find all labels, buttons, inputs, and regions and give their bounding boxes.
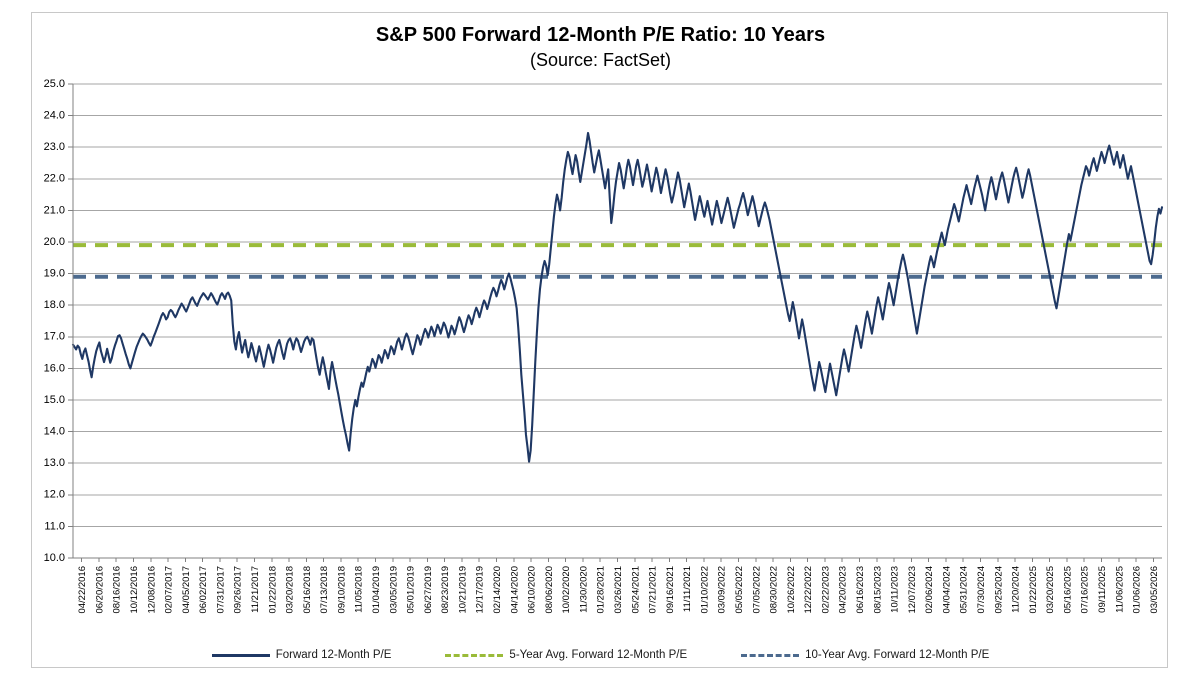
x-axis-ticks: 04/22/201606/20/201608/16/201610/12/2016…: [77, 558, 1160, 614]
x-tick-label: 06/16/2023: [855, 566, 866, 614]
chart-plot-area: 25.024.023.022.021.020.019.018.017.016.0…: [32, 13, 1169, 649]
x-tick-label: 10/02/2020: [561, 566, 572, 614]
x-tick-label: 03/09/2022: [717, 566, 728, 614]
legend-label: Forward 12-Month P/E: [276, 649, 392, 661]
x-tick-label: 11/30/2020: [578, 566, 589, 613]
x-tick-label: 05/31/2024: [959, 566, 970, 614]
forward-pe-line: [73, 133, 1162, 462]
x-tick-label: 12/22/2022: [803, 566, 814, 614]
y-tick-label: 16.0: [44, 362, 65, 374]
x-tick-label: 02/14/2020: [492, 566, 503, 614]
x-tick-label: 08/15/2023: [872, 566, 883, 614]
x-tick-label: 06/02/2017: [198, 566, 209, 614]
x-tick-label: 03/26/2021: [613, 566, 624, 614]
y-tick-label: 11.0: [44, 520, 65, 532]
x-tick-label: 12/17/2019: [475, 566, 486, 614]
x-tick-label: 02/06/2024: [924, 566, 935, 614]
x-tick-label: 11/06/2025: [1114, 566, 1125, 613]
gridlines: [73, 84, 1162, 558]
x-tick-label: 07/21/2021: [648, 566, 659, 614]
x-tick-label: 09/11/2025: [1097, 566, 1108, 613]
legend-swatch-3: [741, 654, 799, 657]
x-tick-label: 05/16/2025: [1062, 566, 1073, 614]
y-tick-label: 24.0: [44, 110, 65, 122]
chart-legend: Forward 12-Month P/E5-Year Avg. Forward …: [32, 649, 1169, 661]
y-tick-label: 12.0: [44, 489, 65, 501]
average-reference-lines: [73, 245, 1162, 277]
y-tick-label: 19.0: [44, 268, 65, 280]
x-tick-label: 02/22/2023: [820, 566, 831, 614]
x-tick-label: 12/08/2016: [146, 566, 157, 614]
x-tick-label: 01/10/2022: [699, 566, 710, 614]
x-tick-label: 01/28/2021: [596, 566, 607, 614]
legend-label: 10-Year Avg. Forward 12-Month P/E: [805, 649, 989, 661]
x-tick-label: 05/16/2018: [302, 566, 313, 614]
x-tick-label: 01/04/2019: [371, 566, 382, 614]
legend-item[interactable]: Forward 12-Month P/E: [212, 649, 392, 661]
x-tick-label: 06/27/2019: [423, 566, 434, 614]
y-tick-label: 10.0: [44, 552, 65, 564]
x-tick-label: 11/05/2018: [354, 566, 365, 613]
x-tick-label: 02/07/2017: [164, 566, 175, 614]
legend-swatch-2: [445, 654, 503, 657]
x-tick-label: 08/23/2019: [440, 566, 451, 614]
x-tick-label: 01/22/2025: [1028, 566, 1039, 614]
y-axis-ticks: 25.024.023.022.021.020.019.018.017.016.0…: [44, 78, 73, 564]
x-tick-label: 11/11/2021: [682, 566, 693, 612]
x-tick-label: 03/05/2019: [388, 566, 399, 614]
x-tick-label: 08/30/2022: [769, 566, 780, 614]
x-tick-label: 07/05/2022: [751, 566, 762, 614]
x-tick-label: 07/30/2024: [976, 566, 987, 614]
y-tick-label: 21.0: [44, 204, 65, 216]
x-tick-label: 03/05/2026: [1149, 566, 1160, 614]
x-tick-label: 11/21/2017: [250, 566, 261, 613]
x-tick-label: 08/06/2020: [544, 566, 555, 614]
x-tick-label: 11/20/2024: [1011, 566, 1022, 613]
x-tick-label: 06/20/2016: [94, 566, 105, 614]
x-tick-label: 04/05/2017: [181, 566, 192, 614]
x-tick-label: 04/14/2020: [509, 566, 520, 614]
x-tick-label: 04/20/2023: [838, 566, 849, 614]
x-tick-label: 10/21/2019: [457, 566, 468, 614]
x-tick-label: 12/07/2023: [907, 566, 918, 614]
chart-page: S&P 500 Forward 12-Month P/E Ratio: 10 Y…: [0, 0, 1200, 676]
x-tick-label: 09/16/2021: [665, 566, 676, 614]
x-tick-label: 08/16/2016: [112, 566, 123, 614]
y-tick-label: 18.0: [44, 299, 65, 311]
y-tick-label: 23.0: [44, 141, 65, 153]
x-tick-label: 07/13/2018: [319, 566, 330, 614]
x-tick-label: 07/16/2025: [1080, 566, 1091, 614]
legend-item[interactable]: 10-Year Avg. Forward 12-Month P/E: [741, 649, 989, 661]
x-tick-label: 04/22/2016: [77, 566, 88, 614]
x-tick-label: 06/10/2020: [527, 566, 538, 614]
x-tick-label: 10/26/2022: [786, 566, 797, 614]
legend-swatch-1: [212, 654, 270, 657]
x-tick-label: 09/25/2024: [993, 566, 1004, 614]
x-tick-label: 01/22/2018: [267, 566, 278, 614]
x-tick-label: 03/20/2025: [1045, 566, 1056, 614]
y-tick-label: 13.0: [44, 457, 65, 469]
y-tick-label: 17.0: [44, 331, 65, 343]
x-tick-label: 05/05/2022: [734, 566, 745, 614]
y-tick-label: 15.0: [44, 394, 65, 406]
y-tick-label: 22.0: [44, 173, 65, 185]
data-series-line: [73, 133, 1162, 462]
x-tick-label: 05/01/2019: [406, 566, 417, 614]
x-tick-label: 10/12/2016: [129, 566, 140, 614]
x-tick-label: 01/06/2026: [1132, 566, 1143, 614]
x-tick-label: 04/04/2024: [941, 566, 952, 614]
x-tick-label: 09/26/2017: [233, 566, 244, 614]
chart-frame: S&P 500 Forward 12-Month P/E Ratio: 10 Y…: [31, 12, 1168, 668]
y-tick-label: 20.0: [44, 236, 65, 248]
x-tick-label: 03/20/2018: [285, 566, 296, 614]
x-tick-label: 07/31/2017: [215, 566, 226, 614]
x-tick-label: 05/24/2021: [630, 566, 641, 614]
x-tick-label: 09/10/2018: [336, 566, 347, 614]
legend-item[interactable]: 5-Year Avg. Forward 12-Month P/E: [445, 649, 687, 661]
y-tick-label: 14.0: [44, 426, 65, 438]
y-tick-label: 25.0: [44, 78, 65, 90]
x-tick-label: 10/11/2023: [890, 566, 901, 613]
legend-label: 5-Year Avg. Forward 12-Month P/E: [509, 649, 687, 661]
